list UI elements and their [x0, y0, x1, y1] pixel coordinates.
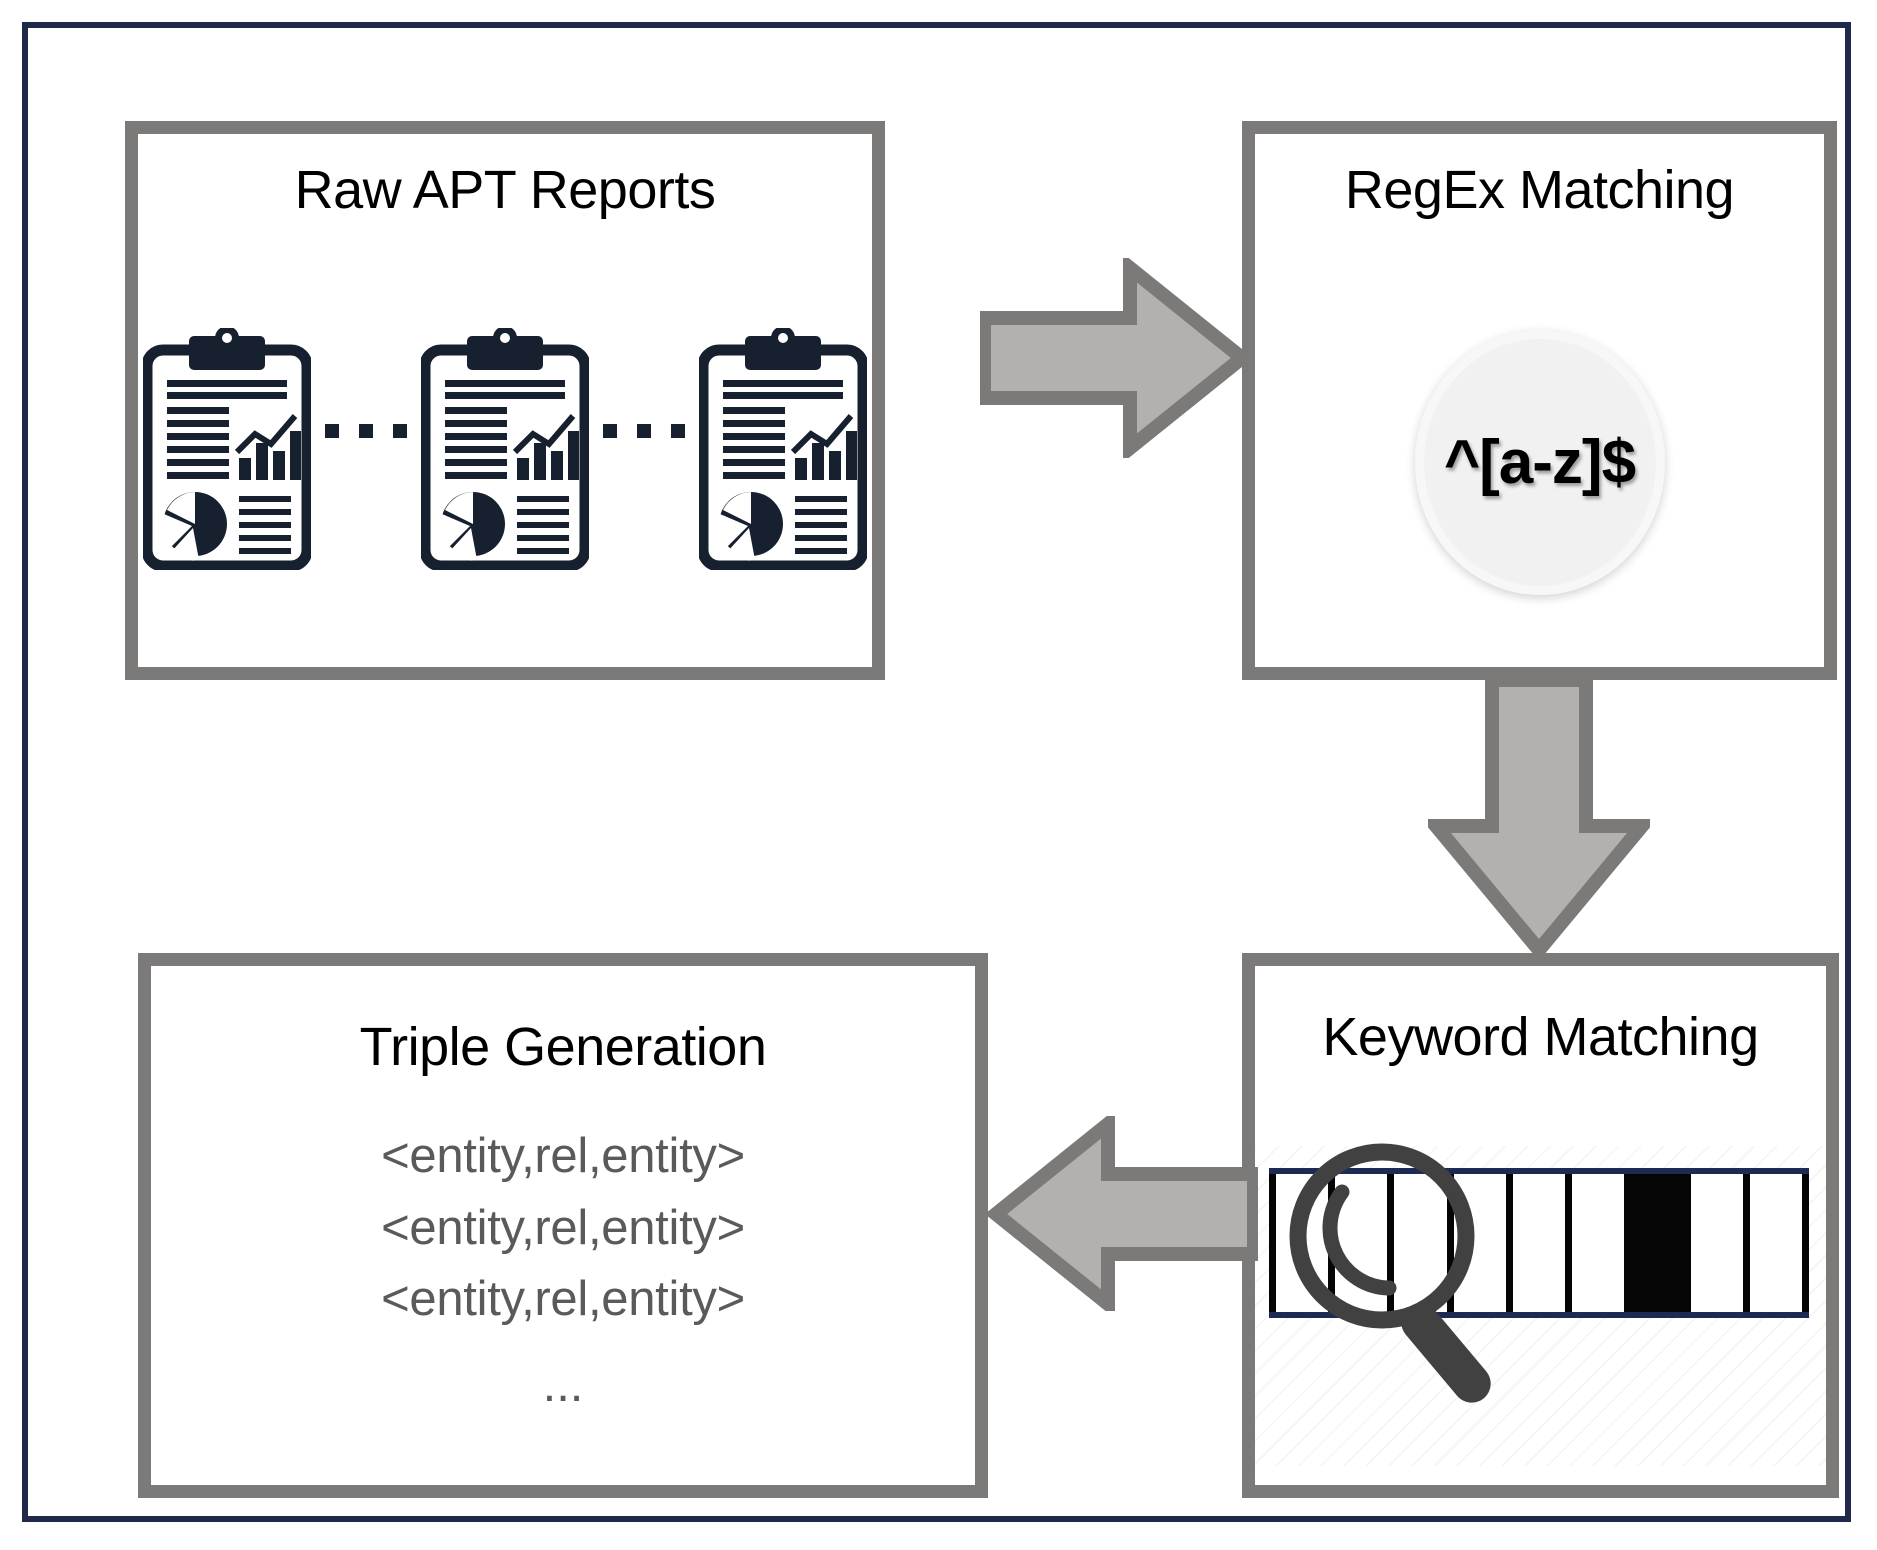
ellipsis-dot — [325, 424, 339, 438]
ellipsis-dot — [359, 424, 373, 438]
figure-outer-frame: Raw APT Reports — [22, 22, 1851, 1522]
triple-list: <entity,rel,entity> <entity,rel,entity> … — [151, 1121, 975, 1421]
arrow-regex-matching-to-keyword-matching — [1428, 676, 1650, 956]
ellipsis-dot — [603, 424, 617, 438]
raw-reports-title: Raw APT Reports — [138, 159, 872, 221]
stage-box-keyword-matching: Keyword Matching — [1242, 953, 1839, 1498]
regex-matching-title: RegEx Matching — [1255, 159, 1824, 221]
clipboard-report-icon — [699, 328, 867, 570]
clipboard-ellipsis — [325, 424, 407, 474]
arrow-keyword-matching-to-triple-generation — [988, 1116, 1258, 1311]
stage-box-triple-generation: Triple Generation <entity,rel,entity> <e… — [138, 953, 988, 1498]
keyword-search-graphic — [1255, 1146, 1826, 1466]
magnifier-icon — [1277, 1128, 1527, 1408]
triple-item: <entity,rel,entity> — [151, 1193, 975, 1265]
arrow-raw-reports-to-regex-matching — [980, 258, 1248, 458]
ellipsis-dot — [637, 424, 651, 438]
triple-ellipsis: ... — [151, 1336, 975, 1422]
triple-item: <entity,rel,entity> — [151, 1264, 975, 1336]
barcode-cell — [1572, 1174, 1631, 1312]
barcode-cell — [1750, 1174, 1809, 1312]
clipboard-report-icon — [421, 328, 589, 570]
triple-item: <entity,rel,entity> — [151, 1121, 975, 1193]
regex-pattern-text: ^[a-z]$ — [1444, 427, 1635, 498]
keyword-matching-title: Keyword Matching — [1255, 1006, 1826, 1068]
ellipsis-dot — [393, 424, 407, 438]
pipeline-figure: Raw APT Reports — [0, 0, 1877, 1550]
clipboard-report-icon — [143, 328, 311, 570]
stage-box-raw-reports: Raw APT Reports — [125, 121, 885, 680]
ellipsis-dot — [671, 424, 685, 438]
clipboard-row — [138, 304, 872, 594]
stage-box-regex-matching: RegEx Matching ^[a-z]$ — [1242, 121, 1837, 680]
regex-circle-icon: ^[a-z]$ — [1415, 330, 1665, 595]
barcode-cell — [1691, 1174, 1750, 1312]
triple-generation-title: Triple Generation — [151, 1016, 975, 1078]
clipboard-ellipsis — [603, 424, 685, 474]
barcode-cell-highlighted — [1631, 1174, 1690, 1312]
